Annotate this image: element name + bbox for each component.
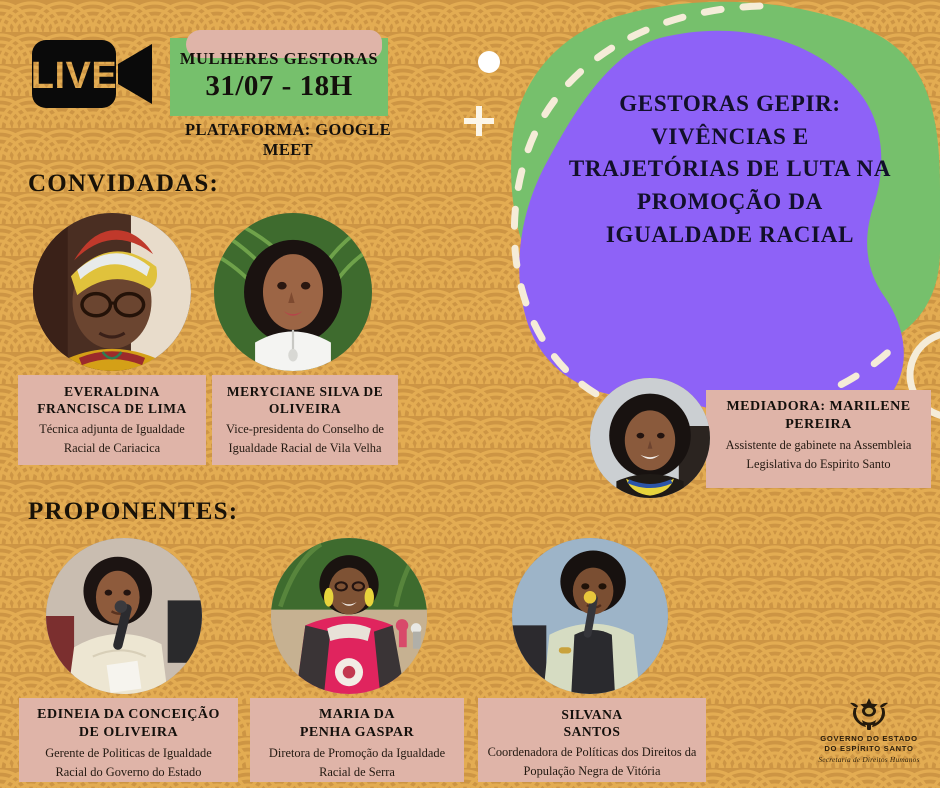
portrait-edineia — [46, 538, 202, 694]
proposer-card-maria: MARIA DA PENHA GASPAR Diretora de Promoç… — [250, 698, 464, 782]
title-line-5: IGUALDADE RACIAL — [540, 219, 920, 252]
proposer-card-silvana: SILVANA SANTOS Coordenadora de Políticas… — [478, 698, 706, 782]
proposer-role-line-1: Diretora de Promoção da Igualdade — [256, 745, 458, 761]
proposer-name-line-2: SANTOS — [484, 723, 700, 740]
coat-of-arms-icon — [848, 696, 890, 732]
government-logo-line-3: Secretaria de Direitos Humanos — [816, 755, 922, 764]
guest-name-line-1: MERYCIANE SILVA DE — [218, 383, 392, 400]
guest-name-line-1: EVERALDINA — [24, 383, 200, 400]
portrait-meryciane — [214, 213, 372, 371]
proposer-role-line-1: Coordenadora de Políticas dos Direitos d… — [484, 744, 700, 760]
page-title: GESTORAS GEPIR: VIVÊNCIAS E TRAJETÓRIAS … — [540, 88, 920, 251]
guest-name-line-2: FRANCISCA DE LIMA — [24, 400, 200, 417]
guest-card-meryciane: MERYCIANE SILVA DE OLIVEIRA Vice-preside… — [212, 375, 398, 465]
guest-role-line-2: Racial de Cariacica — [24, 440, 200, 456]
proposer-role-line-2: Racial do Governo do Estado — [25, 764, 232, 780]
guest-card-everaldina: EVERALDINA FRANCISCA DE LIMA Técnica adj… — [18, 375, 206, 465]
proposer-role-line-2: Racial de Serra — [256, 764, 458, 780]
guest-role-line-1: Técnica adjunta de Igualdade — [24, 421, 200, 437]
portrait-silvana — [512, 538, 668, 694]
guest-role-line-2: Igualdade Racial de Vila Velha — [218, 440, 392, 456]
proposer-role-line-1: Gerente de Politicas de Igualdade — [25, 745, 232, 761]
proposer-name-line-2: PENHA GASPAR — [256, 724, 458, 742]
proposer-name-line-2: DE OLIVEIRA — [25, 724, 232, 742]
title-line-1: GESTORAS GEPIR: — [540, 88, 920, 121]
event-poster: LIVE MULHERES GESTORAS 31/07 - 18H PLATA… — [0, 0, 940, 788]
proposer-name-line-1: MARIA DA — [256, 706, 458, 724]
title-line-2: VIVÊNCIAS E — [540, 121, 920, 154]
live-video-camera-icon: LIVE — [30, 32, 160, 116]
event-platform: PLATAFORMA: GOOGLE MEET — [168, 120, 408, 160]
mediator-role-line-1: Assistente de gabinete na Assembleia — [712, 437, 925, 453]
event-audience: MULHERES GESTORAS — [180, 50, 378, 68]
proposers-section-heading: PROPONENTES: — [28, 498, 238, 526]
event-date-time: 31/07 - 18H — [205, 70, 352, 103]
guest-role-line-1: Vice-presidenta do Conselho de — [218, 421, 392, 437]
portrait-everaldina — [33, 213, 191, 371]
government-logo: GOVERNO DO ESTADO DO ESPÍRITO SANTO Secr… — [816, 696, 922, 764]
portrait-maria — [271, 538, 427, 694]
guests-section-heading: CONVIDADAS: — [28, 170, 219, 198]
proposer-role-line-2: População Negra de Vitória — [484, 763, 700, 779]
government-logo-line-2: DO ESPÍRITO SANTO — [816, 744, 922, 753]
mediator-name-line-2: PEREIRA — [712, 416, 925, 434]
mediator-name-line-1: MEDIADORA: MARILENE — [712, 398, 925, 416]
title-line-3: TRAJETÓRIAS DE LUTA NA — [540, 153, 920, 186]
mediator-card: MEDIADORA: MARILENE PEREIRA Assistente d… — [706, 390, 931, 488]
proposer-name-line-1: SILVANA — [484, 706, 700, 723]
event-info-text: MULHERES GESTORAS 31/07 - 18H — [170, 38, 388, 116]
government-logo-line-1: GOVERNO DO ESTADO — [816, 734, 922, 743]
portrait-marilene — [590, 378, 710, 498]
mediator-role-line-2: Legislativa do Espirito Santo — [712, 456, 925, 472]
proposer-name-line-1: EDINEIA DA CONCEIÇÃO — [25, 706, 232, 724]
guest-name-line-2: OLIVEIRA — [218, 400, 392, 417]
title-line-4: PROMOÇÃO DA — [540, 186, 920, 219]
proposer-card-edineia: EDINEIA DA CONCEIÇÃO DE OLIVEIRA Gerente… — [19, 698, 238, 782]
